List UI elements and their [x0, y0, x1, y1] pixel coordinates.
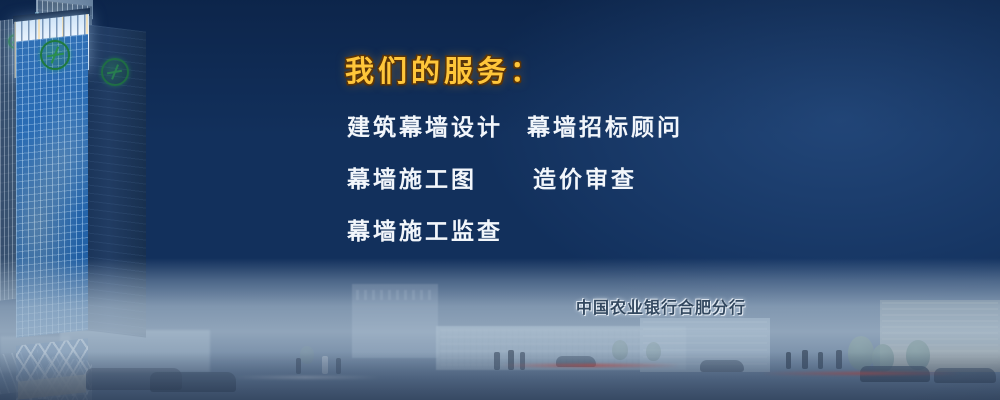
service-item-construction-drawing: 幕墙施工图: [347, 160, 477, 194]
service-item-construction-supervision: 幕墙施工监查: [347, 212, 503, 246]
banner-copy: 我们的服务： 建筑幕墙设计 幕墙招标顾问 幕墙施工图 造价审查 幕墙施工监查 中…: [0, 0, 1000, 400]
service-item-curtain-wall-design: 建筑幕墙设计: [347, 108, 503, 142]
service-banner: 我们的服务： 建筑幕墙设计 幕墙招标顾问 幕墙施工图 造价审查 幕墙施工监查 中…: [0, 0, 1000, 400]
service-item-cost-review: 造价审查: [533, 160, 637, 194]
page-title: 我们的服务：: [345, 48, 543, 90]
project-caption: 中国农业银行合肥分行: [576, 294, 746, 318]
service-item-bidding-consultant: 幕墙招标顾问: [527, 108, 683, 142]
